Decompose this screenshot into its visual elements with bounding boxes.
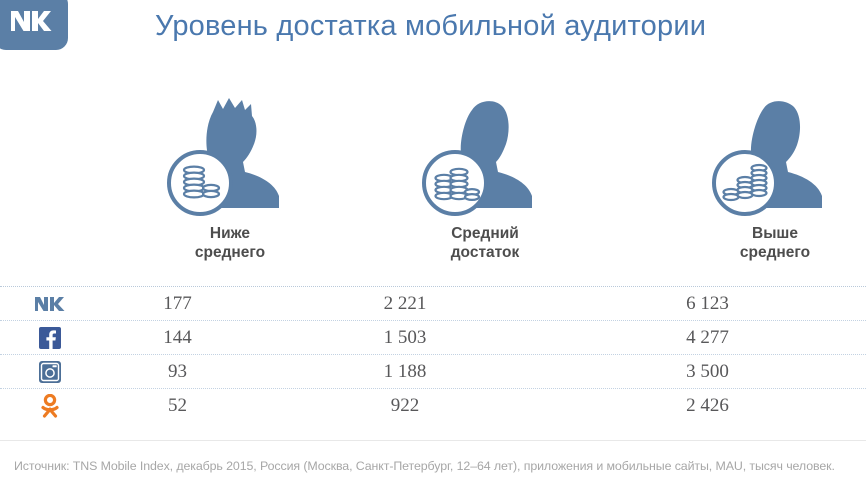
cell-below-average: 52 xyxy=(100,395,255,417)
source-note: Источник: TNS Mobile Index, декабрь 2015… xyxy=(14,459,835,473)
table-row: 52 922 2 426 xyxy=(0,388,866,422)
cell-average: 2 221 xyxy=(255,293,555,315)
person-with-coins-medium-icon xyxy=(365,92,605,220)
table-row: 177 2 221 6 123 xyxy=(0,286,866,320)
data-table: 177 2 221 6 123 144 1 503 4 277 93 1 188… xyxy=(0,286,866,422)
table-row: 93 1 188 3 500 xyxy=(0,354,866,388)
cell-below-average: 177 xyxy=(100,293,255,315)
cell-average: 922 xyxy=(255,395,555,417)
cell-above-average: 6 123 xyxy=(555,293,860,315)
facebook-icon xyxy=(0,327,100,349)
persona-average: Средний достаток xyxy=(365,92,605,262)
vk-icon xyxy=(0,294,100,314)
page-title: Уровень достатка мобильной аудитории xyxy=(155,10,706,43)
persona-label-line2: среднего xyxy=(655,243,866,262)
persona-label-line1: Выше xyxy=(752,225,798,242)
cell-above-average: 4 277 xyxy=(555,327,860,349)
persona-above-average: Выше среднего xyxy=(655,92,866,262)
persona-label-below-average: Ниже среднего xyxy=(110,224,350,262)
persona-label-line2: среднего xyxy=(110,243,350,262)
cell-below-average: 93 xyxy=(100,361,255,383)
persona-label-above-average: Выше среднего xyxy=(655,224,866,262)
person-with-coins-high-icon xyxy=(655,92,866,220)
cell-above-average: 2 426 xyxy=(555,395,860,417)
persona-label-line1: Средний xyxy=(451,225,519,242)
cell-below-average: 144 xyxy=(100,327,255,349)
persona-label-line1: Ниже xyxy=(210,225,250,242)
persona-label-line2: достаток xyxy=(365,243,605,262)
person-with-coins-low-icon xyxy=(110,92,350,220)
instagram-icon xyxy=(0,361,100,383)
persona-label-average: Средний достаток xyxy=(365,224,605,262)
cell-average: 1 503 xyxy=(255,327,555,349)
cell-average: 1 188 xyxy=(255,361,555,383)
persona-columns: Ниже среднего xyxy=(90,92,866,277)
cell-above-average: 3 500 xyxy=(555,361,860,383)
vk-logo-icon xyxy=(9,8,53,34)
vk-brand-logo xyxy=(0,0,68,50)
persona-below-average: Ниже среднего xyxy=(110,92,350,262)
odnoklassniki-icon xyxy=(0,394,100,418)
table-row: 144 1 503 4 277 xyxy=(0,320,866,354)
footer-divider xyxy=(0,440,866,441)
